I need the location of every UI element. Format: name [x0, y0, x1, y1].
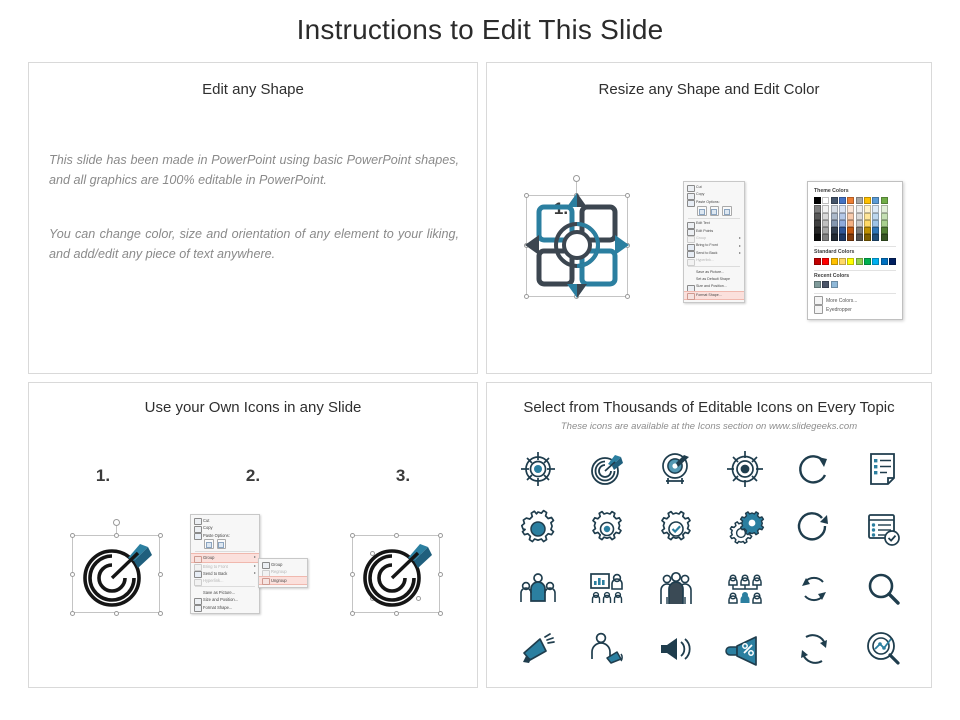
tint-swatch[interactable]: [864, 227, 871, 234]
tint-swatch[interactable]: [856, 205, 863, 212]
chevron-right-icon: [739, 245, 741, 247]
tint-swatch[interactable]: [814, 220, 821, 227]
panel-heading: Resize any Shape and Edit Color: [487, 81, 931, 98]
color-swatch[interactable]: [872, 258, 879, 265]
menu-item-copy[interactable]: Copy: [684, 191, 744, 198]
paste-keep-formatting-icon[interactable]: [697, 206, 707, 216]
presentation-audience-icon[interactable]: [572, 559, 641, 619]
tint-swatch[interactable]: [831, 234, 838, 241]
refresh-arrow-icon[interactable]: [779, 439, 848, 499]
menu-separator: [688, 218, 740, 219]
tint-swatch[interactable]: [839, 227, 846, 234]
chevron-right-icon: [254, 565, 256, 567]
panel-heading: Edit any Shape: [29, 81, 477, 98]
icon-gallery: [503, 439, 917, 679]
person-megaphone-icon[interactable]: [572, 619, 641, 679]
color-swatch-spacer: [856, 281, 863, 288]
color-swatch-spacer: [864, 281, 871, 288]
color-swatch[interactable]: [889, 258, 896, 265]
tint-swatch[interactable]: [881, 213, 888, 220]
color-swatch[interactable]: [847, 258, 854, 265]
double-gear-icon[interactable]: [710, 499, 779, 559]
tint-swatch-spacer: [889, 220, 896, 227]
tint-swatch[interactable]: [881, 220, 888, 227]
menu-item-set-default-shape[interactable]: Set as Default Shape: [684, 276, 744, 283]
standard-colors-grid[interactable]: [814, 258, 896, 265]
shape-context-menu[interactable]: Cut Copy Paste Options: Edit Text Edit P…: [683, 181, 745, 303]
crosshair-target-icon[interactable]: [503, 439, 572, 499]
panel-editable-icons: Select from Thousands of Editable Icons …: [486, 382, 932, 688]
page-title: Instructions to Edit This Slide: [0, 14, 960, 46]
panel-edit-any-shape: Edit any Shape This slide has been made …: [28, 62, 478, 374]
tint-swatch[interactable]: [814, 234, 821, 241]
document-check-icon[interactable]: [848, 499, 917, 559]
tint-swatch[interactable]: [839, 234, 846, 241]
color-swatch[interactable]: [839, 197, 846, 204]
tint-swatch[interactable]: [822, 220, 829, 227]
color-swatch[interactable]: [831, 281, 838, 288]
tint-swatch[interactable]: [847, 227, 854, 234]
tint-swatch[interactable]: [822, 227, 829, 234]
paste-option-buttons[interactable]: [684, 206, 744, 216]
tint-swatch[interactable]: [839, 213, 846, 220]
theme-tints-grid[interactable]: [814, 205, 896, 241]
gear-check-icon[interactable]: [641, 499, 710, 559]
menu-item-cut[interactable]: Cut: [191, 517, 259, 524]
menu-separator: [195, 586, 255, 587]
tint-swatch[interactable]: [822, 213, 829, 220]
menu-item-format-shape[interactable]: Format Shape...: [191, 604, 259, 611]
menu-separator: [195, 551, 255, 552]
tint-swatch[interactable]: [831, 213, 838, 220]
menu-item-bring-to-front: Bring to Front: [191, 563, 259, 570]
tint-swatch[interactable]: [822, 205, 829, 212]
speaker-icon[interactable]: [641, 619, 710, 679]
tint-swatch[interactable]: [847, 213, 854, 220]
panel-heading: Use your Own Icons in any Slide: [29, 399, 477, 416]
menu-item-cut[interactable]: Cut: [684, 184, 744, 191]
menu-item-group[interactable]: Group: [191, 553, 259, 562]
paste-icon: [194, 533, 202, 540]
color-picker-panel[interactable]: Theme Colors: [807, 181, 903, 320]
color-swatch[interactable]: [881, 258, 888, 265]
tint-swatch[interactable]: [856, 234, 863, 241]
menu-item-size-and-position[interactable]: Size and Position...: [684, 283, 744, 290]
menu-item-size-and-position[interactable]: Size and Position...: [191, 596, 259, 603]
paste-keep-formatting-icon[interactable]: [204, 539, 214, 549]
tint-swatch[interactable]: [822, 234, 829, 241]
submenu-item-ungroup[interactable]: Ungroup: [259, 576, 307, 585]
edit-shape-paragraph-1: This slide has been made in PowerPoint u…: [49, 151, 459, 190]
chevron-right-icon: [739, 237, 741, 239]
color-swatch[interactable]: [864, 258, 871, 265]
color-swatch-spacer: [881, 281, 888, 288]
tint-swatch[interactable]: [881, 234, 888, 241]
menu-item-copy[interactable]: Copy: [191, 524, 259, 531]
color-swatch-spacer: [847, 281, 854, 288]
format-shape-icon: [687, 293, 695, 300]
tint-swatch[interactable]: [814, 213, 821, 220]
checklist-document-icon[interactable]: [848, 439, 917, 499]
hyperlink-icon: [194, 579, 202, 586]
tint-swatch[interactable]: [831, 227, 838, 234]
tint-swatch[interactable]: [839, 205, 846, 212]
tint-swatch-spacer: [889, 205, 896, 212]
menu-separator: [688, 266, 740, 267]
hyperlink-icon: [687, 259, 695, 266]
format-shape-icon: [194, 605, 202, 612]
chevron-right-icon: [254, 572, 256, 574]
circular-arrows-icon[interactable]: [779, 619, 848, 679]
menu-item-group: Group: [684, 235, 744, 242]
step-number: 1.: [28, 466, 178, 486]
color-swatch[interactable]: [856, 258, 863, 265]
circular-arrow-icon[interactable]: [779, 499, 848, 559]
own-icons-step-numbers: 1. 2. 3.: [28, 466, 478, 486]
theme-colors-grid[interactable]: [814, 197, 896, 204]
tint-swatch-spacer: [889, 213, 896, 220]
tint-swatch[interactable]: [864, 213, 871, 220]
color-swatch[interactable]: [856, 197, 863, 204]
color-swatch[interactable]: [872, 197, 879, 204]
tint-swatch[interactable]: [856, 213, 863, 220]
tint-swatch[interactable]: [847, 220, 854, 227]
color-swatch-spacer: [889, 281, 896, 288]
menu-item-edit-points[interactable]: Edit Points: [684, 228, 744, 235]
step-number: 2.: [178, 466, 328, 486]
ungroup-icon: [262, 578, 270, 585]
tint-swatch[interactable]: [864, 220, 871, 227]
menu-item-edit-text[interactable]: Edit Text: [684, 220, 744, 227]
step-number: 3.: [328, 466, 478, 486]
color-swatch[interactable]: [831, 258, 838, 265]
color-swatch-spacer: [872, 281, 879, 288]
slide-canvas: Instructions to Edit This Slide Edit any…: [0, 0, 960, 720]
tint-swatch[interactable]: [864, 234, 871, 241]
picker-separator: [814, 270, 896, 271]
group-context-menu[interactable]: Cut Copy Paste Options: Group Bring to F…: [190, 514, 260, 614]
panel-heading: Select from Thousands of Editable Icons …: [487, 399, 931, 416]
tint-swatch[interactable]: [856, 227, 863, 234]
recent-colors-grid[interactable]: [814, 281, 896, 288]
edit-shape-paragraph-2: You can change color, size and orientati…: [49, 225, 459, 264]
panel-subheading: These icons are available at the Icons s…: [487, 421, 931, 432]
menu-item-format-shape[interactable]: Format Shape...: [684, 291, 744, 300]
org-chart-icon[interactable]: [710, 559, 779, 619]
group-submenu[interactable]: Group Regroup Ungroup: [258, 558, 308, 588]
recent-colors-label: Recent Colors: [814, 273, 896, 279]
color-swatch[interactable]: [814, 197, 821, 204]
tint-swatch[interactable]: [881, 205, 888, 212]
scope-target-icon[interactable]: [710, 439, 779, 499]
paste-picture-icon[interactable]: [217, 539, 227, 549]
theme-colors-label: Theme Colors: [814, 188, 896, 194]
tint-swatch[interactable]: [814, 227, 821, 234]
discount-megaphone-icon[interactable]: [710, 619, 779, 679]
tint-swatch[interactable]: [872, 227, 879, 234]
palette-icon: [814, 296, 823, 305]
dartboard-arrow-icon[interactable]: [572, 439, 641, 499]
eyedropper-icon: [814, 305, 823, 314]
tint-swatch[interactable]: [831, 205, 838, 212]
group-icon: [194, 556, 202, 563]
gear-center-icon[interactable]: [572, 499, 641, 559]
tint-swatch[interactable]: [856, 220, 863, 227]
picker-separator: [814, 293, 896, 294]
tint-swatch[interactable]: [839, 220, 846, 227]
tint-swatch[interactable]: [814, 205, 821, 212]
color-swatch-spacer: [839, 281, 846, 288]
color-swatch[interactable]: [814, 258, 821, 265]
color-swatch[interactable]: [822, 258, 829, 265]
color-swatch[interactable]: [847, 197, 854, 204]
color-swatch[interactable]: [814, 281, 821, 288]
target-magnifier-icon[interactable]: [848, 619, 917, 679]
picker-separator: [814, 246, 896, 247]
tint-swatch[interactable]: [872, 205, 879, 212]
paste-picture-icon[interactable]: [710, 206, 720, 216]
chevron-right-icon: [739, 252, 741, 254]
eyedropper-button[interactable]: Eyedropper: [814, 305, 896, 314]
megaphone-icon[interactable]: [503, 619, 572, 679]
tint-swatch[interactable]: [864, 205, 871, 212]
menu-item-paste-options[interactable]: Paste Options:: [191, 532, 259, 539]
color-swatch[interactable]: [822, 197, 829, 204]
tint-swatch[interactable]: [847, 205, 854, 212]
menu-item-bring-to-front[interactable]: Bring to Front: [684, 242, 744, 249]
menu-item-send-to-back[interactable]: Send to Back: [191, 570, 259, 577]
team-group-icon[interactable]: [641, 559, 710, 619]
tint-swatch[interactable]: [831, 220, 838, 227]
menu-item-send-to-back[interactable]: Send to Back: [684, 250, 744, 257]
submenu-item-regroup: Regroup: [259, 568, 307, 575]
tint-swatch[interactable]: [847, 234, 854, 241]
menu-item-save-as-picture[interactable]: Save as Picture...: [684, 269, 744, 276]
panel-resize-shape-edit-color: Resize any Shape and Edit Color 1. 2. 3.: [486, 62, 932, 374]
more-colors-button[interactable]: More Colors...: [814, 296, 896, 305]
color-swatch-spacer: [889, 197, 896, 204]
people-group-icon[interactable]: [503, 559, 572, 619]
menu-item-hyperlink: Hyperlink...: [684, 257, 744, 264]
tint-swatch-spacer: [889, 234, 896, 241]
tint-swatch[interactable]: [872, 220, 879, 227]
standard-colors-label: Standard Colors: [814, 249, 896, 255]
paste-icon: [687, 200, 695, 207]
selected-dartboard-graphic[interactable]: [62, 518, 170, 618]
ungrouped-dartboard-graphic[interactable]: [342, 518, 450, 618]
target-stand-icon[interactable]: [641, 439, 710, 499]
menu-item-hyperlink: Hyperlink...: [191, 577, 259, 584]
submenu-item-group[interactable]: Group: [259, 561, 307, 568]
color-swatch[interactable]: [839, 258, 846, 265]
color-swatch[interactable]: [822, 281, 829, 288]
sync-arrows-icon[interactable]: [779, 559, 848, 619]
gear-filled-icon[interactable]: [503, 499, 572, 559]
menu-item-save-as-picture[interactable]: Save as Picture...: [191, 589, 259, 596]
paste-keep-text-icon[interactable]: [722, 206, 732, 216]
color-swatch[interactable]: [831, 197, 838, 204]
menu-item-paste-options[interactable]: Paste Options:: [684, 199, 744, 206]
color-swatch[interactable]: [864, 197, 871, 204]
magnifier-icon[interactable]: [848, 559, 917, 619]
tint-swatch-spacer: [889, 227, 896, 234]
chevron-right-icon: [254, 556, 256, 558]
tint-swatch[interactable]: [872, 234, 879, 241]
tint-swatch[interactable]: [881, 227, 888, 234]
selected-shape-graphic[interactable]: [512, 175, 642, 310]
paste-option-buttons[interactable]: [191, 539, 259, 549]
tint-swatch[interactable]: [872, 213, 879, 220]
color-swatch[interactable]: [881, 197, 888, 204]
